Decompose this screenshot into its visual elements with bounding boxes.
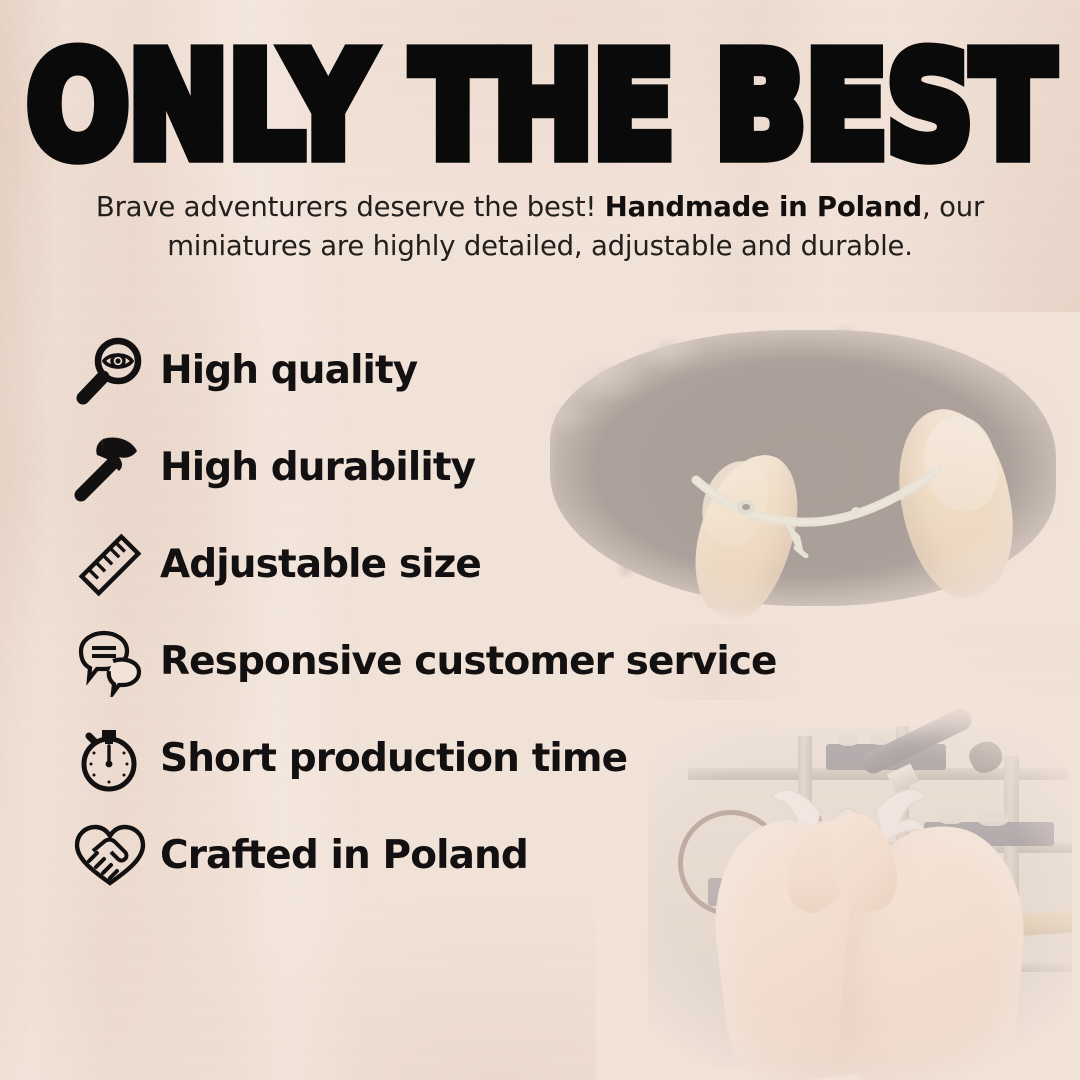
shelf-miniature-3	[938, 810, 964, 824]
promo-poster: ONLY THE BEST Brave adventurers deserve …	[0, 0, 1080, 1080]
feature-label: Crafted in Poland	[160, 833, 528, 878]
hammer-icon	[62, 426, 158, 510]
feature-row: Short production time	[62, 710, 842, 807]
feature-label: Responsive customer service	[160, 639, 777, 684]
feature-label: Short production time	[160, 736, 627, 781]
feature-label: High durability	[160, 445, 475, 490]
magnifier-eye-icon	[62, 329, 158, 413]
feature-row: Adjustable size	[62, 516, 842, 613]
subtitle-bold-handmade: Handmade in Poland	[605, 191, 922, 223]
stopwatch-icon	[62, 717, 158, 801]
ruler-icon	[62, 523, 158, 607]
subtitle: Brave adventurers deserve the best! Hand…	[0, 188, 1080, 266]
feature-row: Crafted in Poland	[62, 807, 842, 904]
feature-row: Responsive customer service	[62, 613, 842, 710]
feature-row: High quality	[62, 322, 842, 419]
shelf-miniature-4	[978, 812, 1008, 826]
headline-text: ONLY THE BEST	[0, 34, 1080, 178]
subtitle-lead: Brave adventurers deserve the best!	[96, 191, 605, 223]
feature-row: High durability	[62, 419, 842, 516]
heart-handshake-icon	[62, 814, 158, 898]
feature-label: High quality	[160, 348, 417, 393]
feature-list: High quality High durability	[62, 322, 842, 904]
subtitle-tail: ,	[922, 191, 931, 223]
headline-container: ONLY THE BEST	[0, 34, 1080, 152]
feature-label: Adjustable size	[160, 542, 481, 587]
chat-bubbles-icon	[62, 620, 158, 704]
